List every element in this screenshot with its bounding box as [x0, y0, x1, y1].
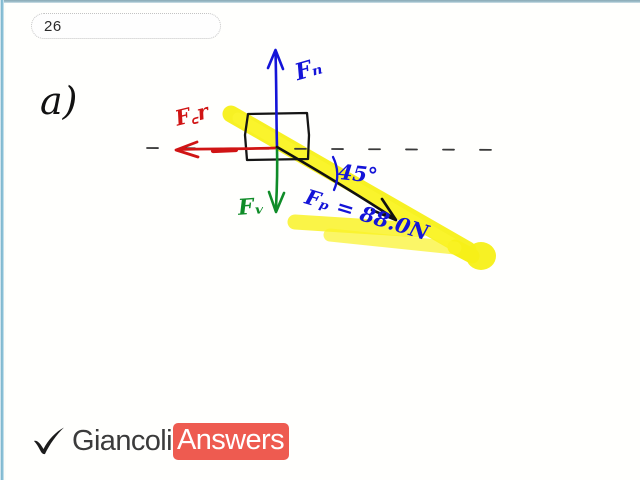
giancoli-answers-logo[interactable]: Giancoli Answers [32, 424, 289, 458]
slide-canvas: 26 [0, 0, 640, 480]
friction-force-arrow [176, 142, 276, 157]
logo-brand-primary: Giancoli [72, 425, 172, 458]
part-label-a: a) [40, 82, 77, 120]
gravity-force-arrow [269, 148, 284, 212]
logo-brand-badge: Answers [173, 423, 289, 460]
check-icon [32, 426, 66, 456]
yellow-highlighter-stroke [231, 114, 496, 270]
normal-force-label: Fₙ [292, 55, 324, 85]
gravity-force-label: Fᵥ [237, 195, 265, 219]
angle-label: 45° [337, 161, 379, 186]
